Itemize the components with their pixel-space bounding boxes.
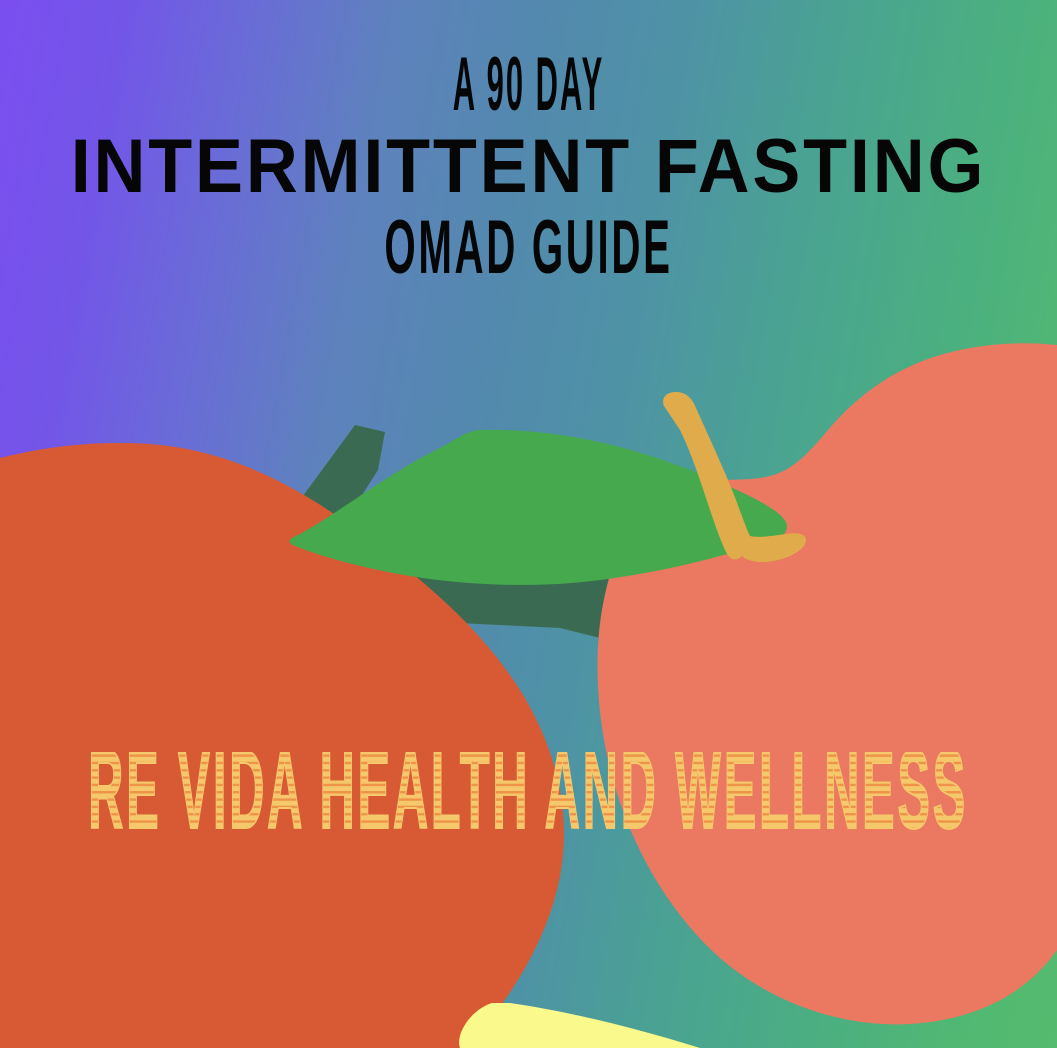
poster-canvas: A 90 DAY INTERMITTENT FASTING OMAD GUIDE… <box>0 0 1057 1048</box>
accent-yellow-shape <box>459 1003 700 1048</box>
apple-right-shape <box>597 343 1057 1024</box>
fruit-illustration <box>0 0 1057 1048</box>
